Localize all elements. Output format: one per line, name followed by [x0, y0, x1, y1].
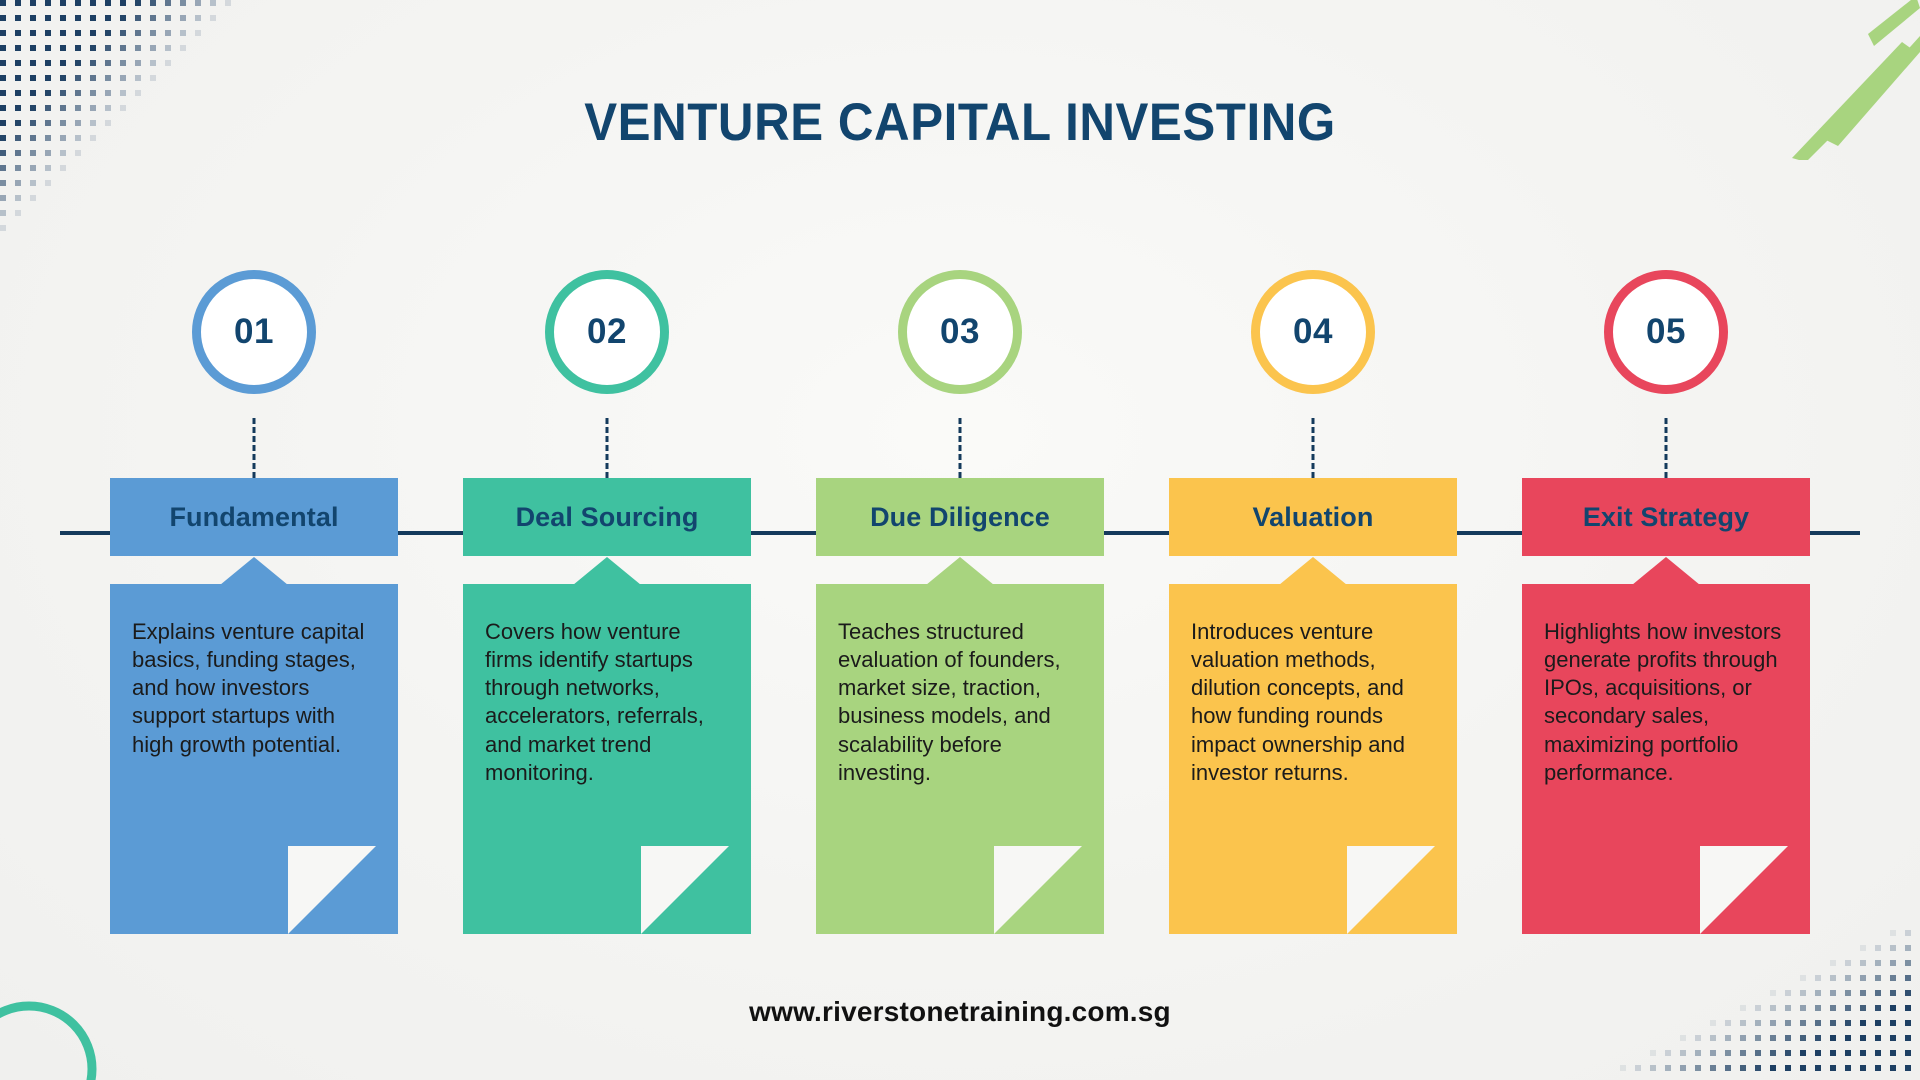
step-2-corner-fold: [641, 846, 729, 934]
step-1-corner-fold: [288, 846, 376, 934]
step-5-card[interactable]: Highlights how investors generate profit…: [1522, 584, 1810, 934]
step-2-body-text: Covers how venture firms identify startu…: [485, 619, 704, 785]
steps-container: 01 Fundamental Explains venture capital …: [0, 0, 1920, 1080]
step-3-card[interactable]: Teaches structured evaluation of founder…: [816, 584, 1104, 934]
step-5[interactable]: 05 Exit Strategy Highlights how investor…: [1522, 270, 1810, 934]
step-2-card[interactable]: Covers how venture firms identify startu…: [463, 584, 751, 934]
step-4-heading[interactable]: Valuation: [1169, 478, 1457, 556]
step-4-card[interactable]: Introduces venture valuation methods, di…: [1169, 584, 1457, 934]
step-2-heading[interactable]: Deal Sourcing: [463, 478, 751, 556]
step-2-connector: [606, 418, 609, 478]
step-3-body-text: Teaches structured evaluation of founder…: [838, 619, 1061, 785]
step-4-number-badge[interactable]: 04: [1251, 270, 1375, 394]
step-1-number-badge[interactable]: 01: [192, 270, 316, 394]
step-1-badge-wrap: 01: [110, 270, 398, 418]
step-3-badge-wrap: 03: [816, 270, 1104, 418]
step-4-corner-fold: [1347, 846, 1435, 934]
step-5-heading[interactable]: Exit Strategy: [1522, 478, 1810, 556]
step-3-number-badge[interactable]: 03: [898, 270, 1022, 394]
step-3-connector: [959, 418, 962, 478]
step-4-badge-wrap: 04: [1169, 270, 1457, 418]
step-1-body-text: Explains venture capital basics, funding…: [132, 619, 364, 757]
step-5-badge-wrap: 05: [1522, 270, 1810, 418]
step-1[interactable]: 01 Fundamental Explains venture capital …: [110, 270, 398, 934]
step-3-heading[interactable]: Due Diligence: [816, 478, 1104, 556]
step-2-badge-wrap: 02: [463, 270, 751, 418]
step-2-number-badge[interactable]: 02: [545, 270, 669, 394]
step-4[interactable]: 04 Valuation Introduces venture valuatio…: [1169, 270, 1457, 934]
step-1-heading[interactable]: Fundamental: [110, 478, 398, 556]
footer-url[interactable]: www.riverstonetraining.com.sg: [0, 996, 1920, 1028]
step-5-body-text: Highlights how investors generate profit…: [1544, 619, 1781, 785]
step-1-card[interactable]: Explains venture capital basics, funding…: [110, 584, 398, 934]
step-4-connector: [1312, 418, 1315, 478]
step-4-body-text: Introduces venture valuation methods, di…: [1191, 619, 1405, 785]
step-3[interactable]: 03 Due Diligence Teaches structured eval…: [816, 270, 1104, 934]
step-1-connector: [253, 418, 256, 478]
step-2[interactable]: 02 Deal Sourcing Covers how venture firm…: [463, 270, 751, 934]
step-5-corner-fold: [1700, 846, 1788, 934]
step-3-corner-fold: [994, 846, 1082, 934]
step-5-number-badge[interactable]: 05: [1604, 270, 1728, 394]
step-5-connector: [1665, 418, 1668, 478]
